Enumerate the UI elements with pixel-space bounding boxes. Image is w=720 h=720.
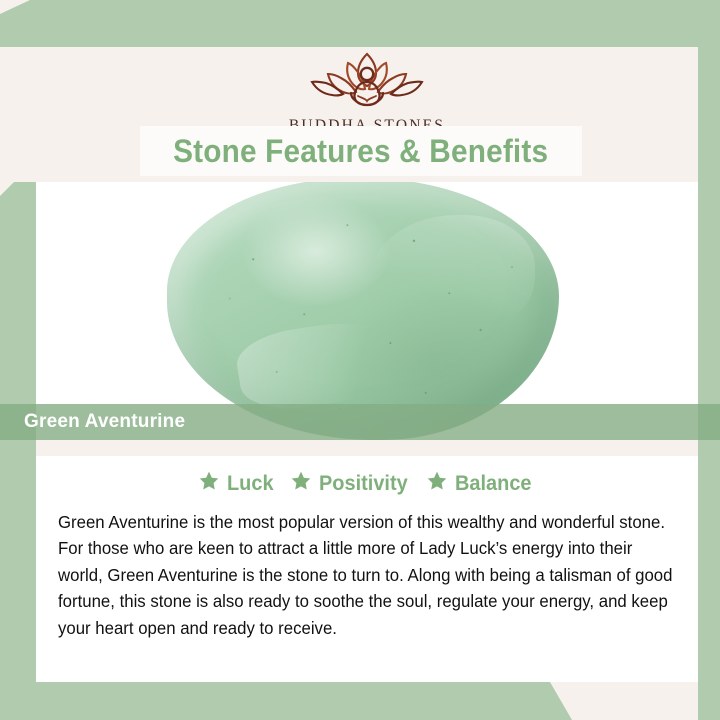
star-icon (198, 470, 220, 497)
frame-top-border (0, 0, 720, 47)
green-aventurine-stone-image (167, 182, 559, 440)
header: BUDDHA STONES (36, 47, 698, 125)
benefit-item-positivity: Positivity (290, 470, 412, 497)
frame-left-border (0, 182, 36, 720)
section-divider (36, 440, 698, 456)
star-icon (426, 470, 448, 497)
page-title: Stone Features & Benefits (173, 133, 548, 170)
benefits-row: Luck Positivity Balance (58, 470, 676, 497)
stone-description: Green Aventurine is the most popular ver… (58, 509, 676, 641)
frame-bottom-right-notch (550, 682, 720, 720)
stone-name-label: Green Aventurine (24, 411, 185, 433)
benefit-item-luck: Luck (198, 470, 276, 497)
star-icon (290, 470, 312, 497)
benefit-label-luck: Luck (227, 472, 274, 496)
title-banner: Stone Features & Benefits (140, 126, 582, 176)
benefit-label-positivity: Positivity (319, 472, 408, 496)
description-panel: Luck Positivity Balance Green Aventurine… (36, 456, 698, 682)
brand-logo: BUDDHA STONES (289, 47, 445, 135)
stone-photo-panel (36, 182, 698, 440)
benefit-item-balance: Balance (426, 470, 536, 497)
benefit-label-balance: Balance (455, 472, 532, 496)
lotus-meditation-icon (292, 47, 442, 114)
stone-name-band: Green Aventurine (0, 404, 720, 440)
stone-speckle-texture (167, 182, 559, 440)
frame-right-border (698, 0, 720, 720)
